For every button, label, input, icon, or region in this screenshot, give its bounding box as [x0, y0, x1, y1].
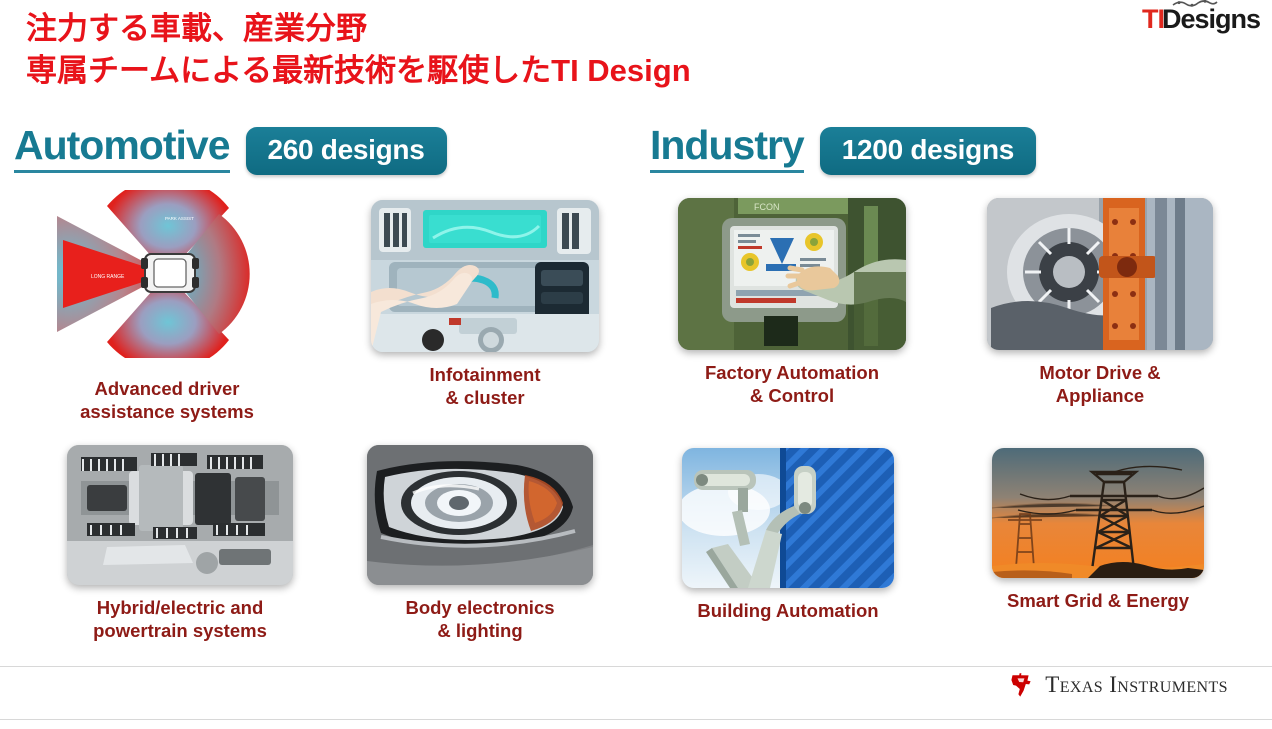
- ti-designs-logo: TI Designs: [1142, 6, 1260, 33]
- badge-automotive-designs: 260 designs: [246, 127, 447, 175]
- card-smart-grid[interactable]: Smart Grid & Energy: [958, 448, 1238, 613]
- page-title: 注力する車載、産業分野 専属チームによる最新技術を駆使したTI Design: [26, 8, 1086, 92]
- card-body-lighting[interactable]: Body electronics & lighting: [340, 445, 620, 642]
- card-caption-factory-automation: Factory Automation & Control: [705, 362, 879, 407]
- svg-text:LONG RANGE: LONG RANGE: [91, 274, 125, 280]
- card-caption-building-automation: Building Automation: [697, 600, 878, 623]
- card-hybrid-powertrain[interactable]: Hybrid/electric and powertrain systems: [40, 445, 320, 642]
- ti-designs-logo-designs: Designs: [1162, 6, 1260, 33]
- section-header-row: Automotive 260 designs Industry 1200 des…: [0, 124, 1272, 186]
- category-card-grid: LONG RANGE PARK ASSIST Advanced driver a…: [0, 190, 1272, 660]
- section-title-industry: Industry: [650, 124, 804, 173]
- card-building-automation[interactable]: Building Automation: [648, 448, 928, 623]
- factory-automation-photo: FCON: [678, 198, 906, 350]
- motor-drive-photo: [987, 198, 1213, 350]
- card-caption-adas: Advanced driver assistance systems: [80, 378, 254, 423]
- card-caption-hybrid-powertrain: Hybrid/electric and powertrain systems: [93, 597, 267, 642]
- adas-radar-diagram-icon: LONG RANGE PARK ASSIST: [47, 190, 287, 358]
- card-caption-smart-grid: Smart Grid & Energy: [1007, 590, 1189, 613]
- ti-designs-logo-ti: TI: [1142, 6, 1164, 33]
- card-infotainment[interactable]: Infotainment & cluster: [340, 200, 630, 409]
- hybrid-powertrain-photo: [67, 445, 293, 585]
- swoosh-icon: [1172, 0, 1218, 8]
- card-caption-motor-drive: Motor Drive & Appliance: [1039, 362, 1160, 407]
- texas-state-icon: [1008, 672, 1034, 698]
- body-lighting-photo: [367, 445, 593, 585]
- infotainment-photo: [371, 200, 599, 352]
- svg-text:FCON: FCON: [754, 202, 780, 212]
- building-automation-photo: [682, 448, 894, 588]
- section-industry: Industry 1200 designs: [650, 124, 1036, 173]
- smart-grid-photo: [992, 448, 1204, 578]
- section-automotive: Automotive 260 designs: [14, 124, 447, 173]
- card-motor-drive[interactable]: Motor Drive & Appliance: [960, 198, 1240, 407]
- badge-industry-designs: 1200 designs: [820, 127, 1036, 175]
- card-caption-infotainment: Infotainment & cluster: [430, 364, 541, 409]
- ti-designs-logo-designs-text: Designs: [1162, 4, 1260, 34]
- card-caption-body-lighting: Body electronics & lighting: [405, 597, 554, 642]
- svg-text:PARK ASSIST: PARK ASSIST: [165, 216, 194, 221]
- section-title-automotive: Automotive: [14, 124, 230, 173]
- texas-instruments-logo: Texas Instruments: [1008, 672, 1228, 698]
- card-adas[interactable]: LONG RANGE PARK ASSIST Advanced driver a…: [22, 190, 312, 423]
- texas-instruments-wordmark: Texas Instruments: [1045, 672, 1228, 698]
- card-factory-automation[interactable]: FCON: [652, 198, 932, 407]
